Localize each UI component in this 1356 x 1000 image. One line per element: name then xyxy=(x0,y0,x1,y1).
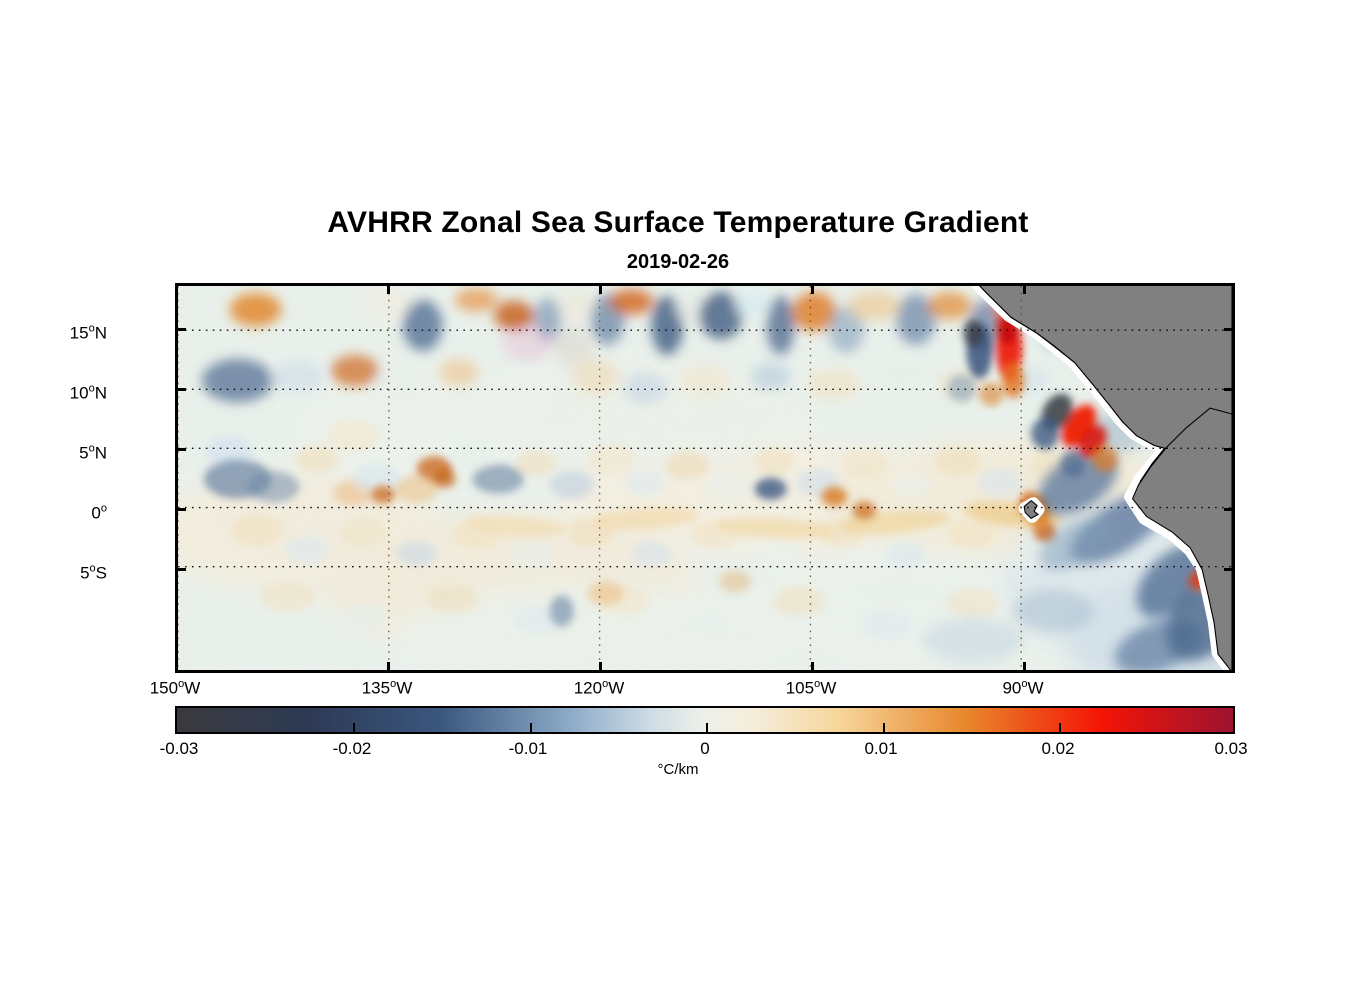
y-tick-mark-right xyxy=(1224,388,1235,391)
y-tick-mark xyxy=(175,568,186,571)
page-subtitle: 2019-02-26 xyxy=(0,250,1356,274)
graticule-grid xyxy=(178,286,1232,670)
x-tick-mark xyxy=(175,662,178,673)
y-tick-mark-right xyxy=(1224,508,1235,511)
y-tick-value: 15 xyxy=(70,323,89,342)
y-tick-hemisphere: N xyxy=(95,323,107,342)
map-axes xyxy=(175,283,1235,673)
x-tick-value: 135 xyxy=(362,679,390,698)
y-tick-hemisphere: N xyxy=(95,443,107,462)
x-tick-value: 105 xyxy=(786,679,814,698)
x-tick-mark xyxy=(599,662,602,673)
y-tick-label: 5oS xyxy=(80,563,107,584)
x-tick-label: 90oW xyxy=(1002,678,1043,699)
colorbar-tick-label: -0.01 xyxy=(509,739,548,759)
colorbar-tick-label: 0.01 xyxy=(864,739,897,759)
page-title: AVHRR Zonal Sea Surface Temperature Grad… xyxy=(0,205,1356,241)
x-tick-hemisphere: W xyxy=(820,679,836,698)
y-tick-mark xyxy=(175,508,186,511)
x-tick-mark xyxy=(811,662,814,673)
x-tick-mark xyxy=(387,662,390,673)
colorbar-tick xyxy=(883,723,885,732)
x-tick-label: 105oW xyxy=(786,678,837,699)
x-tick-mark-top xyxy=(599,283,602,294)
figure-canvas: AVHRR Zonal Sea Surface Temperature Grad… xyxy=(0,0,1356,1000)
y-tick-mark xyxy=(175,448,186,451)
colorbar-tick-label: -0.03 xyxy=(160,739,199,759)
colorbar-tick-label: 0 xyxy=(700,739,709,759)
colorbar-tick xyxy=(706,723,708,732)
colorbar-tick-label: -0.02 xyxy=(333,739,372,759)
y-tick-hemisphere: S xyxy=(96,563,107,582)
y-tick-label: 15oN xyxy=(70,323,107,344)
x-tick-hemisphere: W xyxy=(1028,679,1044,698)
x-tick-label: 135oW xyxy=(362,678,413,699)
colorbar-tick xyxy=(530,723,532,732)
x-tick-mark-top xyxy=(811,283,814,294)
colorbar xyxy=(175,706,1235,734)
colorbar-gradient xyxy=(177,708,1233,732)
y-tick-label: 5oN xyxy=(79,443,107,464)
x-tick-label: 120oW xyxy=(574,678,625,699)
x-tick-value: 120 xyxy=(574,679,602,698)
degree-symbol: o xyxy=(101,503,107,515)
y-tick-label: 0o xyxy=(91,503,107,524)
y-tick-mark xyxy=(175,328,186,331)
colorbar-tick xyxy=(1059,723,1061,732)
y-tick-mark-right xyxy=(1224,328,1235,331)
colorbar-tick-label: 0.02 xyxy=(1041,739,1074,759)
x-tick-hemisphere: W xyxy=(396,679,412,698)
y-tick-label: 10oN xyxy=(70,383,107,404)
x-tick-mark-top xyxy=(387,283,390,294)
x-tick-mark xyxy=(1023,662,1026,673)
colorbar-tick-label: 0.03 xyxy=(1214,739,1247,759)
x-tick-hemisphere: W xyxy=(184,679,200,698)
x-tick-label: 150oW xyxy=(150,678,201,699)
y-tick-value: 10 xyxy=(70,383,89,402)
x-tick-value: 150 xyxy=(150,679,178,698)
colorbar-tick xyxy=(353,723,355,732)
y-tick-mark-right xyxy=(1224,448,1235,451)
x-tick-value: 90 xyxy=(1002,679,1021,698)
y-tick-mark-right xyxy=(1224,568,1235,571)
y-tick-mark xyxy=(175,388,186,391)
y-tick-hemisphere: N xyxy=(95,383,107,402)
colorbar-unit-label: °C/km xyxy=(0,761,1356,778)
x-tick-hemisphere: W xyxy=(608,679,624,698)
title-block: AVHRR Zonal Sea Surface Temperature Grad… xyxy=(0,205,1356,274)
x-tick-mark-top xyxy=(1023,283,1026,294)
